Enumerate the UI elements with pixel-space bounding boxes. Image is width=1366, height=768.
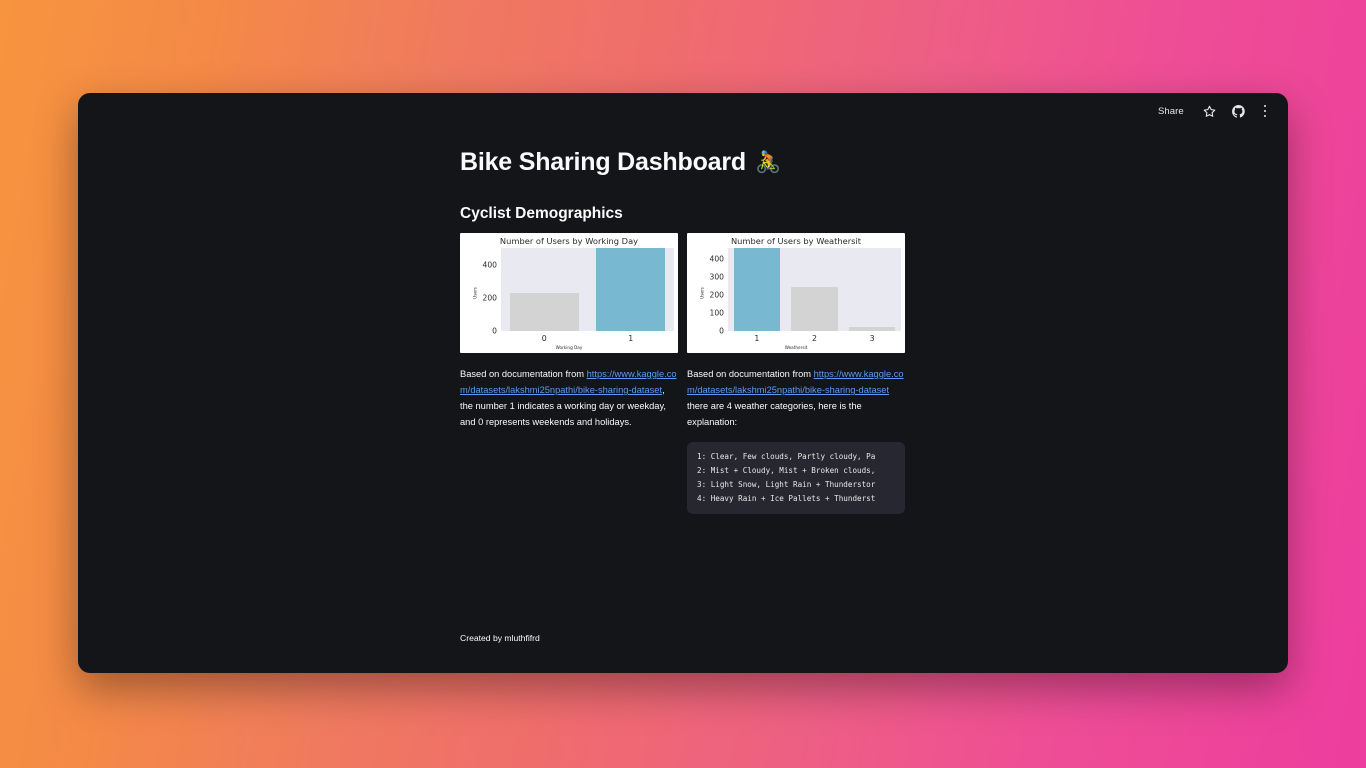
chart-y-tick: 400	[710, 255, 725, 264]
chart-y-axis-label: Users	[699, 287, 704, 299]
weather-categories-code-block: 1: Clear, Few clouds, Partly cloudy, Pa …	[687, 442, 905, 514]
chart-bar-slot	[728, 248, 786, 331]
section-title: Cyclist Demographics	[460, 205, 910, 223]
chart-bar-slot	[786, 248, 844, 331]
chart-plot-area: 0 200 400 0 1	[501, 248, 674, 331]
chart-bar-slot	[588, 248, 675, 331]
chart-bars	[501, 248, 674, 331]
page-title: Bike Sharing Dashboard 🚴	[460, 148, 910, 177]
chart-bar	[734, 248, 780, 331]
chart-y-axis-label: Users	[472, 287, 477, 299]
chart-x-tick: 3	[870, 334, 875, 343]
chart-bars	[728, 248, 901, 331]
chart-x-tick: 1	[754, 334, 759, 343]
chart-title: Number of Users by Weathersit	[687, 236, 905, 246]
chart-x-tick: 1	[628, 334, 633, 343]
bicyclist-icon: 🚴	[755, 152, 781, 173]
chart-bar-slot	[501, 248, 588, 331]
chart-bar-slot	[843, 248, 901, 331]
chart-y-tick: 200	[710, 291, 725, 300]
working-day-description: Based on documentation from https://www.…	[460, 366, 678, 430]
chart-x-tick: 0	[542, 334, 547, 343]
chart-x-axis-label: Working Day	[460, 345, 678, 350]
chart-y-tick: 0	[719, 327, 724, 336]
chart-y-tick: 100	[710, 309, 725, 318]
desc-suffix: there are 4 weather categories, here is …	[687, 401, 862, 427]
chart-bar	[849, 327, 895, 331]
chart-users-by-weathersit: Number of Users by Weathersit Users	[687, 233, 905, 353]
chart-y-tick: 0	[492, 327, 497, 336]
github-icon[interactable]	[1231, 104, 1246, 119]
browser-window: Share Bike Sharing Dashboard 🚴 Cyclist D…	[78, 93, 1288, 673]
chart-y-tick: 200	[483, 293, 498, 302]
chart-title: Number of Users by Working Day	[460, 236, 678, 246]
chart-y-tick: 400	[483, 260, 498, 269]
chart-x-axis-label: Weathersit	[687, 345, 905, 350]
chart-users-by-working-day: Number of Users by Working Day Users	[460, 233, 678, 353]
desc-prefix: Based on documentation from	[687, 369, 814, 379]
chart-x-tick: 2	[812, 334, 817, 343]
chart-plot-area: 0 100 200 300 400 1 2 3	[728, 248, 901, 331]
app-toolbar: Share	[1154, 93, 1276, 129]
weather-categories-code: 1: Clear, Few clouds, Partly cloudy, Pa …	[697, 450, 895, 506]
chart-y-tick: 300	[710, 273, 725, 282]
desc-prefix: Based on documentation from	[460, 369, 587, 379]
column-working-day: Number of Users by Working Day Users	[460, 233, 678, 430]
app-content: Bike Sharing Dashboard 🚴 Cyclist Demogra…	[460, 148, 910, 514]
chart-bar	[596, 248, 665, 331]
star-icon[interactable]	[1202, 104, 1217, 119]
column-weathersit: Number of Users by Weathersit Users	[687, 233, 905, 514]
share-button[interactable]: Share	[1154, 104, 1188, 119]
footer-credit: Created by mluthfifrd	[460, 633, 540, 643]
page-title-text: Bike Sharing Dashboard	[460, 148, 746, 177]
chart-bar	[510, 293, 579, 331]
weathersit-description: Based on documentation from https://www.…	[687, 366, 905, 430]
chart-bar	[791, 287, 837, 331]
kebab-menu-icon[interactable]	[1260, 103, 1270, 119]
columns-container: Number of Users by Working Day Users	[460, 233, 910, 514]
